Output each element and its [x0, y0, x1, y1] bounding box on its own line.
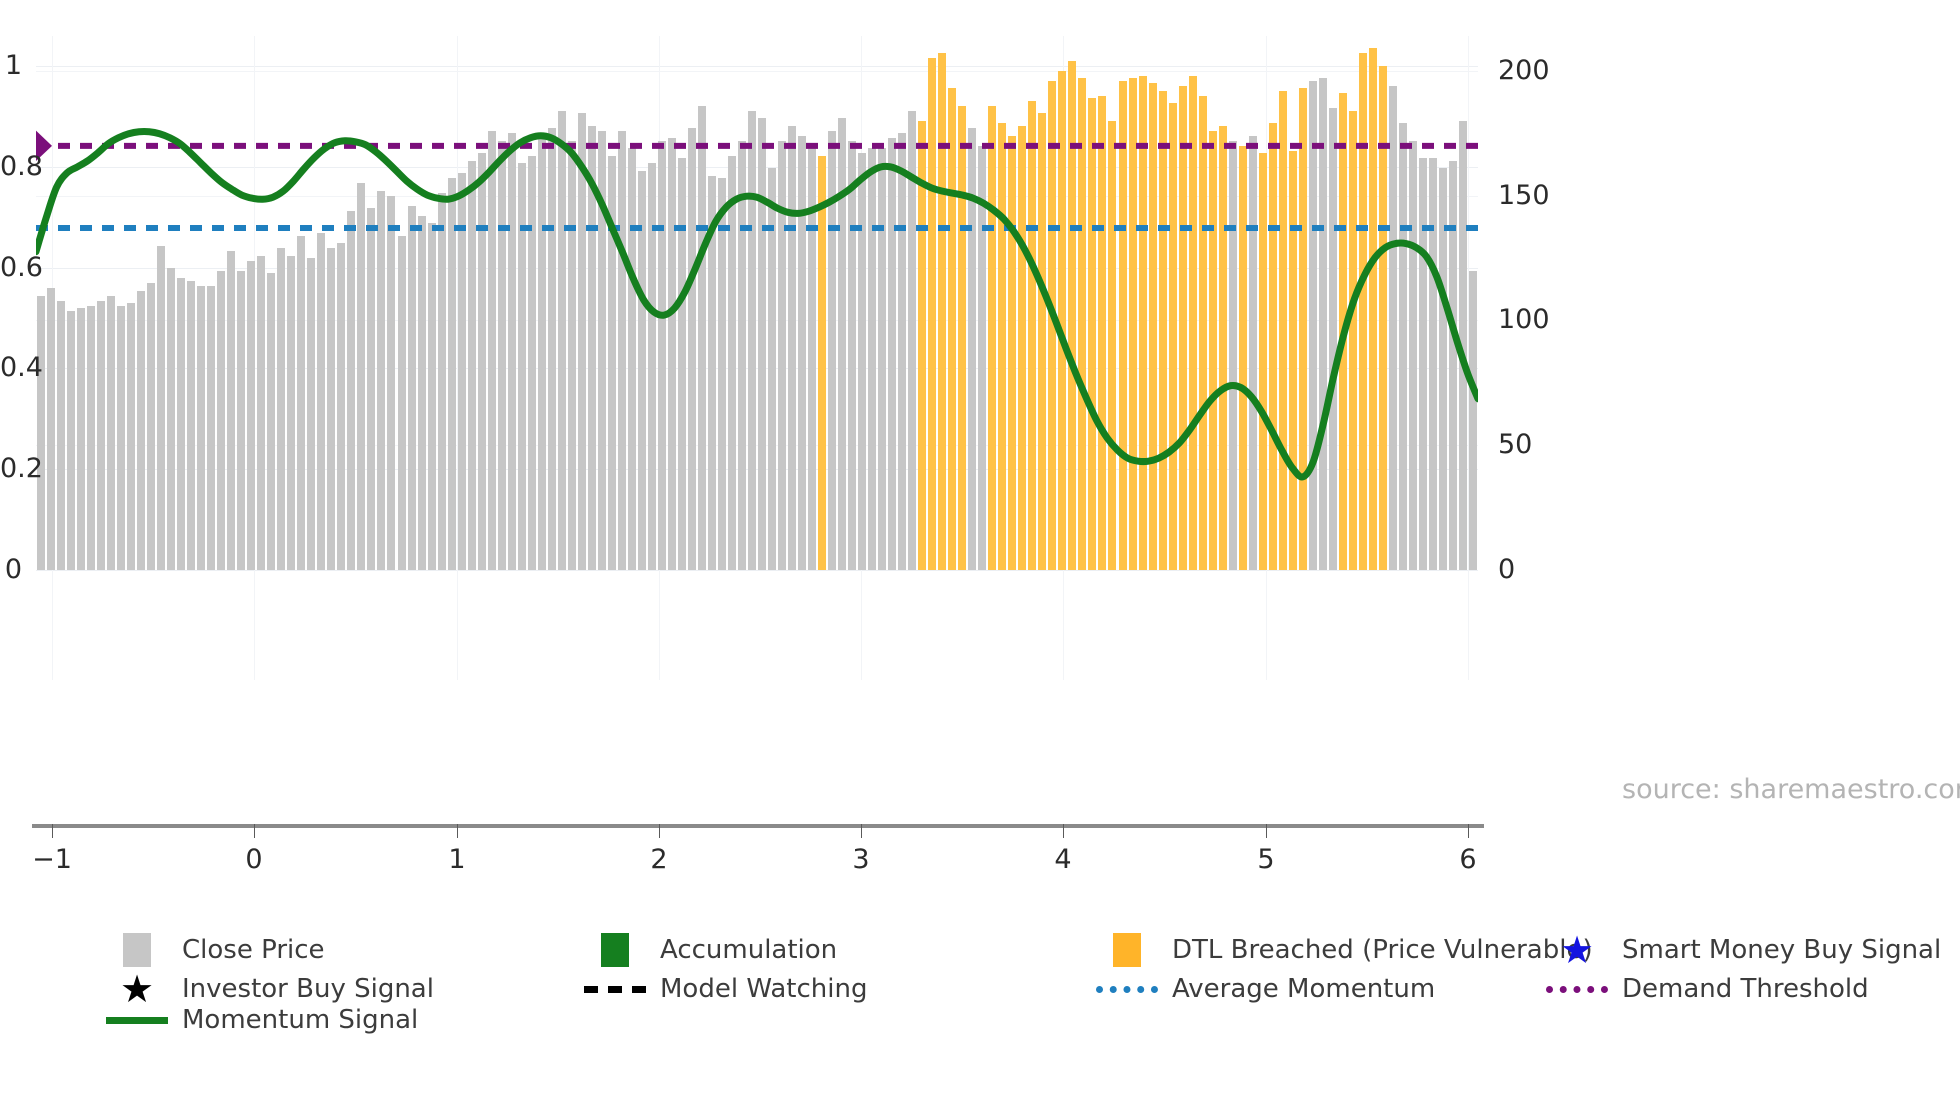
bar-dtl-breached	[1219, 126, 1227, 570]
x-axis-tick	[52, 824, 53, 838]
bar-dtl-breached	[1098, 96, 1106, 570]
bar-close-price	[47, 288, 55, 570]
bar-close-price	[87, 306, 95, 571]
bar-close-price	[458, 173, 466, 570]
bar-close-price	[418, 216, 426, 570]
bar-close-price	[1459, 121, 1467, 570]
bar-dtl-breached	[1359, 53, 1367, 570]
bar-close-price	[728, 156, 736, 570]
bar-close-price	[898, 133, 906, 570]
y-axis-left-tick-label: 0.4	[0, 354, 22, 381]
bar-dtl-breached	[1169, 103, 1177, 570]
bar-dtl-breached	[1008, 136, 1016, 570]
bar-dtl-breached	[1018, 126, 1026, 570]
bar-close-price	[748, 111, 756, 570]
bar-dtl-breached	[998, 123, 1006, 570]
bar-dtl-breached	[1068, 61, 1076, 570]
bar-close-price	[1409, 141, 1417, 570]
legend-label: Close Price	[182, 935, 325, 965]
bar-close-price	[107, 296, 115, 570]
plot-area	[36, 36, 1478, 570]
bar-close-price	[1439, 168, 1447, 570]
bar-dtl-breached	[1078, 78, 1086, 570]
bar-dtl-breached	[988, 106, 996, 570]
bar-close-price	[57, 301, 65, 570]
bar-dtl-breached	[918, 121, 926, 570]
legend-item[interactable]: Momentum Signal	[100, 1000, 418, 1040]
bar-close-price	[377, 191, 385, 570]
legend-item[interactable]: Accumulation	[578, 930, 837, 970]
bar-close-price	[317, 233, 325, 570]
bar-dtl-breached	[1149, 83, 1157, 570]
bar-dtl-breached	[1269, 123, 1277, 570]
legend-label: DTL Breached (Price Vulnerable)	[1172, 935, 1593, 965]
bar-close-price	[267, 273, 275, 570]
bar-close-price	[287, 256, 295, 570]
bar-dtl-breached	[1289, 151, 1297, 570]
bar-close-price	[97, 301, 105, 570]
legend-item[interactable]: Demand Threshold	[1540, 969, 1869, 1009]
x-axis-tick	[1266, 824, 1267, 838]
bar-dtl-breached	[1108, 121, 1116, 570]
blue-dotted-line-icon	[1090, 969, 1164, 1009]
bar-close-price	[207, 286, 215, 570]
bar-close-price	[197, 286, 205, 570]
legend-label: Momentum Signal	[182, 1005, 418, 1035]
bar-close-price	[1229, 141, 1237, 570]
y-axis-right-tick-label: 50	[1498, 431, 1532, 458]
grey-square-icon	[100, 930, 174, 970]
bar-close-price	[137, 291, 145, 570]
bar-close-price	[798, 136, 806, 570]
bar-close-price	[1399, 123, 1407, 570]
legend-item[interactable]: Model Watching	[578, 969, 867, 1009]
bar-close-price	[398, 236, 406, 570]
x-axis-tick-label: −1	[32, 846, 72, 873]
bar-close-price	[548, 128, 556, 570]
bar-close-price	[1389, 86, 1397, 570]
orange-square-icon	[1090, 930, 1164, 970]
bar-close-price	[768, 168, 776, 570]
bar-close-price	[1449, 161, 1457, 570]
bar-close-price	[618, 131, 626, 570]
black-dashed-line-icon	[578, 969, 652, 1009]
bar-close-price	[448, 178, 456, 570]
bar-close-price	[588, 126, 596, 570]
bar-close-price	[1329, 108, 1337, 570]
bar-close-price	[678, 158, 686, 570]
bar-dtl-breached	[1299, 88, 1307, 570]
bar-dtl-breached	[1028, 101, 1036, 570]
bar-close-price	[408, 206, 416, 570]
bar-close-price	[1419, 158, 1427, 570]
bar-close-price	[558, 111, 566, 570]
bar-close-price	[117, 306, 125, 571]
y-axis-right-tick-label: 150	[1498, 182, 1550, 209]
bar-close-price	[878, 148, 886, 570]
bar-close-price	[668, 138, 676, 570]
legend-item[interactable]: DTL Breached (Price Vulnerable)	[1090, 930, 1593, 970]
bar-close-price	[227, 251, 235, 570]
x-axis-tick-label: 4	[1054, 846, 1071, 873]
bar-dtl-breached	[948, 88, 956, 570]
x-axis-tick	[659, 824, 660, 838]
bar-dtl-breached	[1038, 113, 1046, 570]
bar-dtl-breached	[928, 58, 936, 570]
bar-close-price	[538, 138, 546, 570]
bar-close-price	[307, 258, 315, 570]
bar-dtl-breached	[1349, 111, 1357, 570]
bar-close-price	[648, 163, 656, 570]
legend-item[interactable]: ★Smart Money Buy Signal	[1540, 930, 1941, 970]
bar-close-price	[428, 223, 436, 570]
bar-close-price	[508, 133, 516, 570]
bar-dtl-breached	[1058, 71, 1066, 570]
bar-dtl-breached	[1209, 131, 1217, 570]
legend-label: Demand Threshold	[1622, 974, 1869, 1004]
bar-close-price	[367, 208, 375, 570]
bar-close-price	[498, 141, 506, 570]
bar-close-price	[127, 303, 135, 570]
green-square-icon	[578, 930, 652, 970]
bar-dtl-breached	[1159, 91, 1167, 570]
bar-close-price	[978, 146, 986, 570]
bar-dtl-breached	[938, 53, 946, 570]
bar-close-price	[257, 256, 265, 570]
bar-close-price	[37, 296, 45, 570]
y-axis-left-tick-label: 0	[0, 556, 22, 583]
bar-close-price	[337, 243, 345, 570]
bar-dtl-breached	[1369, 48, 1377, 570]
bar-close-price	[77, 308, 85, 570]
legend-label: Model Watching	[660, 974, 867, 1004]
bar-close-price	[327, 248, 335, 570]
y-axis-left-tick-label: 1	[0, 52, 22, 79]
bar-close-price	[297, 236, 305, 570]
bar-close-price	[347, 211, 355, 570]
legend-label: Accumulation	[660, 935, 837, 965]
bar-close-price	[608, 156, 616, 570]
bar-close-price	[838, 118, 846, 570]
bar-close-price	[598, 131, 606, 570]
bar-close-price	[438, 193, 446, 570]
bar-close-price	[518, 163, 526, 570]
gridline-horizontal	[36, 570, 1478, 571]
bar-dtl-breached	[1279, 91, 1287, 570]
x-axis-tick-label: 3	[852, 846, 869, 873]
y-axis-right-tick-label: 200	[1498, 57, 1550, 84]
bar-dtl-breached	[1119, 81, 1127, 570]
bar-close-price	[468, 161, 476, 570]
bar-close-price	[718, 178, 726, 570]
bar-close-price	[1319, 78, 1327, 570]
bar-close-price	[67, 311, 75, 571]
x-axis-tick-label: 2	[650, 846, 667, 873]
bar-close-price	[758, 118, 766, 570]
bar-dtl-breached	[1199, 96, 1207, 570]
bar-close-price	[157, 246, 165, 570]
bar-close-price	[387, 196, 395, 570]
bar-close-price	[147, 283, 155, 570]
bar-close-price	[247, 261, 255, 570]
bar-dtl-breached	[1189, 76, 1197, 570]
bar-close-price	[167, 268, 175, 570]
bar-close-price	[808, 146, 816, 570]
y-axis-right-tick-label: 100	[1498, 306, 1550, 333]
bar-close-price	[828, 131, 836, 570]
source-note: source: sharemaestro.com	[1622, 774, 1960, 805]
bar-close-price	[628, 148, 636, 570]
bar-dtl-breached	[1139, 76, 1147, 570]
bar-close-price	[848, 141, 856, 570]
x-axis-tick-label: 5	[1257, 846, 1274, 873]
bar-close-price	[688, 128, 696, 570]
bar-dtl-breached	[1259, 153, 1267, 570]
y-axis-left-tick-label: 0.6	[0, 254, 22, 281]
x-axis-tick	[254, 824, 255, 838]
bar-close-price	[478, 153, 486, 570]
bar-close-price	[277, 248, 285, 570]
bar-close-price	[698, 106, 706, 570]
green-solid-line-icon	[100, 1000, 174, 1040]
bar-close-price	[568, 141, 576, 570]
y-axis-left-tick-label: 0.8	[0, 153, 22, 180]
bar-dtl-breached	[1379, 66, 1387, 570]
blue-star-icon: ★	[1540, 930, 1614, 970]
bar-close-price	[868, 148, 876, 570]
bar-close-price	[237, 271, 245, 570]
bar-close-price	[1429, 158, 1437, 570]
legend-label: Average Momentum	[1172, 974, 1435, 1004]
bar-close-price	[1249, 136, 1257, 570]
bar-close-price	[217, 271, 225, 570]
legend-item[interactable]: Average Momentum	[1090, 969, 1435, 1009]
legend-item[interactable]: Close Price	[100, 930, 325, 970]
bar-close-price	[578, 113, 586, 570]
bar-dtl-breached	[1129, 78, 1137, 570]
bar-dtl-breached	[1239, 146, 1247, 570]
legend-label: Smart Money Buy Signal	[1622, 935, 1941, 965]
bar-dtl-breached	[1048, 81, 1056, 570]
x-axis-tick	[1468, 824, 1469, 838]
bar-dtl-breached	[958, 106, 966, 570]
bar-dtl-breached	[1088, 98, 1096, 570]
bar-close-price	[177, 278, 185, 570]
y-axis-left-tick-label: 0.2	[0, 455, 22, 482]
purple-dotted-line-icon	[1540, 969, 1614, 1009]
bar-close-price	[858, 153, 866, 570]
bar-close-price	[738, 141, 746, 570]
bar-close-price	[1469, 271, 1477, 570]
y-axis-right-tick-label: 0	[1498, 556, 1515, 583]
x-axis-tick-label: 1	[448, 846, 465, 873]
bar-close-price	[357, 183, 365, 570]
chart-figure: 00.20.40.60.81 050100150200 −10123456 so…	[0, 0, 1960, 1102]
x-axis-tick	[457, 824, 458, 838]
bar-close-price	[187, 281, 195, 570]
bar-close-price	[888, 138, 896, 570]
bar-close-price	[778, 141, 786, 570]
bar-dtl-breached	[1179, 86, 1187, 570]
x-axis-tick-label: 6	[1459, 846, 1476, 873]
bar-close-price	[788, 126, 796, 570]
x-axis-tick	[1063, 824, 1064, 838]
bar-close-price	[528, 156, 536, 570]
bar-close-price	[488, 131, 496, 570]
x-axis-tick-label: 0	[245, 846, 262, 873]
bar-dtl-breached	[1339, 93, 1347, 570]
bar-close-price	[1309, 81, 1317, 570]
bar-close-price	[638, 171, 646, 570]
bar-close-price	[658, 141, 666, 570]
bar-close-price	[908, 111, 916, 570]
bar-close-price	[968, 128, 976, 570]
bar-dtl-breached	[818, 156, 826, 570]
bar-close-price	[708, 176, 716, 570]
x-axis-tick	[861, 824, 862, 838]
